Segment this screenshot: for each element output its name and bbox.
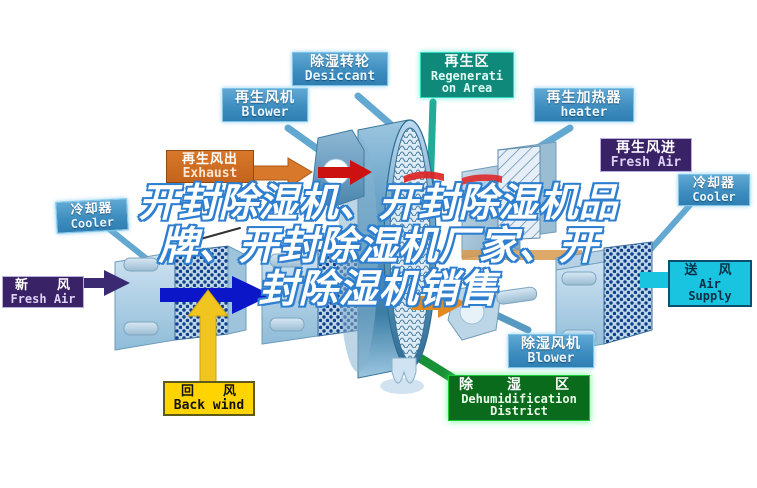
label-exhaust-en: Exhaust (171, 167, 249, 181)
label-back-wind-en: Back wind (169, 399, 249, 413)
label-dehumidification-district-cn: 除 湿 区 (453, 378, 585, 393)
label-exhaust-cn: 再生风出 (171, 153, 249, 167)
label-dehumid-blower-cn: 除湿风机 (513, 337, 589, 352)
label-regen-heater-en: heater (539, 106, 629, 120)
label-regeneration-area-en2: on Area (425, 82, 509, 95)
label-exhaust: 再生风出 Exhaust (166, 150, 254, 183)
label-regen-fresh-air-cn: 再生风进 (605, 141, 687, 156)
label-back-wind: 回 风 Back wind (163, 381, 255, 416)
watermark-overlay: 开封除湿机、开封除湿机品 牌、开封除湿机厂家、开 封除湿机销售 (0, 182, 757, 311)
label-regen-blower-en: Blower (227, 106, 303, 120)
label-regen-blower: 再生风机 Blower (222, 88, 308, 122)
label-dehumidification-district-en2: District (453, 405, 585, 418)
label-desiccant-rotor-cn: 除湿转轮 (297, 55, 383, 70)
watermark-line-1: 开封除湿机、开封除湿机品 (0, 182, 757, 225)
label-back-wind-cn: 回 风 (169, 385, 249, 399)
dehumidifier-diagram: 除湿转轮 Desiccant 再生风机 Blower 再生区 Regenerat… (0, 0, 757, 488)
label-regen-heater-cn: 再生加热器 (539, 91, 629, 106)
label-regen-fresh-air-en: Fresh Air (605, 156, 687, 170)
label-dehumid-blower: 除湿风机 Blower (508, 334, 594, 368)
label-dehumid-blower-en: Blower (513, 352, 589, 366)
label-regeneration-area: 再生区 Regenerati on Area (420, 52, 514, 98)
label-dehumidification-district: 除 湿 区 Dehumidification District (448, 375, 590, 421)
watermark-line-2: 牌、开封除湿机厂家、开 (0, 225, 757, 268)
label-regen-fresh-air: 再生风进 Fresh Air (600, 138, 692, 172)
label-regeneration-area-cn: 再生区 (425, 55, 509, 70)
label-regen-heater: 再生加热器 heater (534, 88, 634, 122)
label-regen-blower-cn: 再生风机 (227, 91, 303, 106)
label-desiccant-rotor-en: Desiccant (297, 70, 383, 84)
watermark-line-3: 封除湿机销售 (0, 268, 757, 311)
label-desiccant-rotor: 除湿转轮 Desiccant (292, 52, 388, 86)
